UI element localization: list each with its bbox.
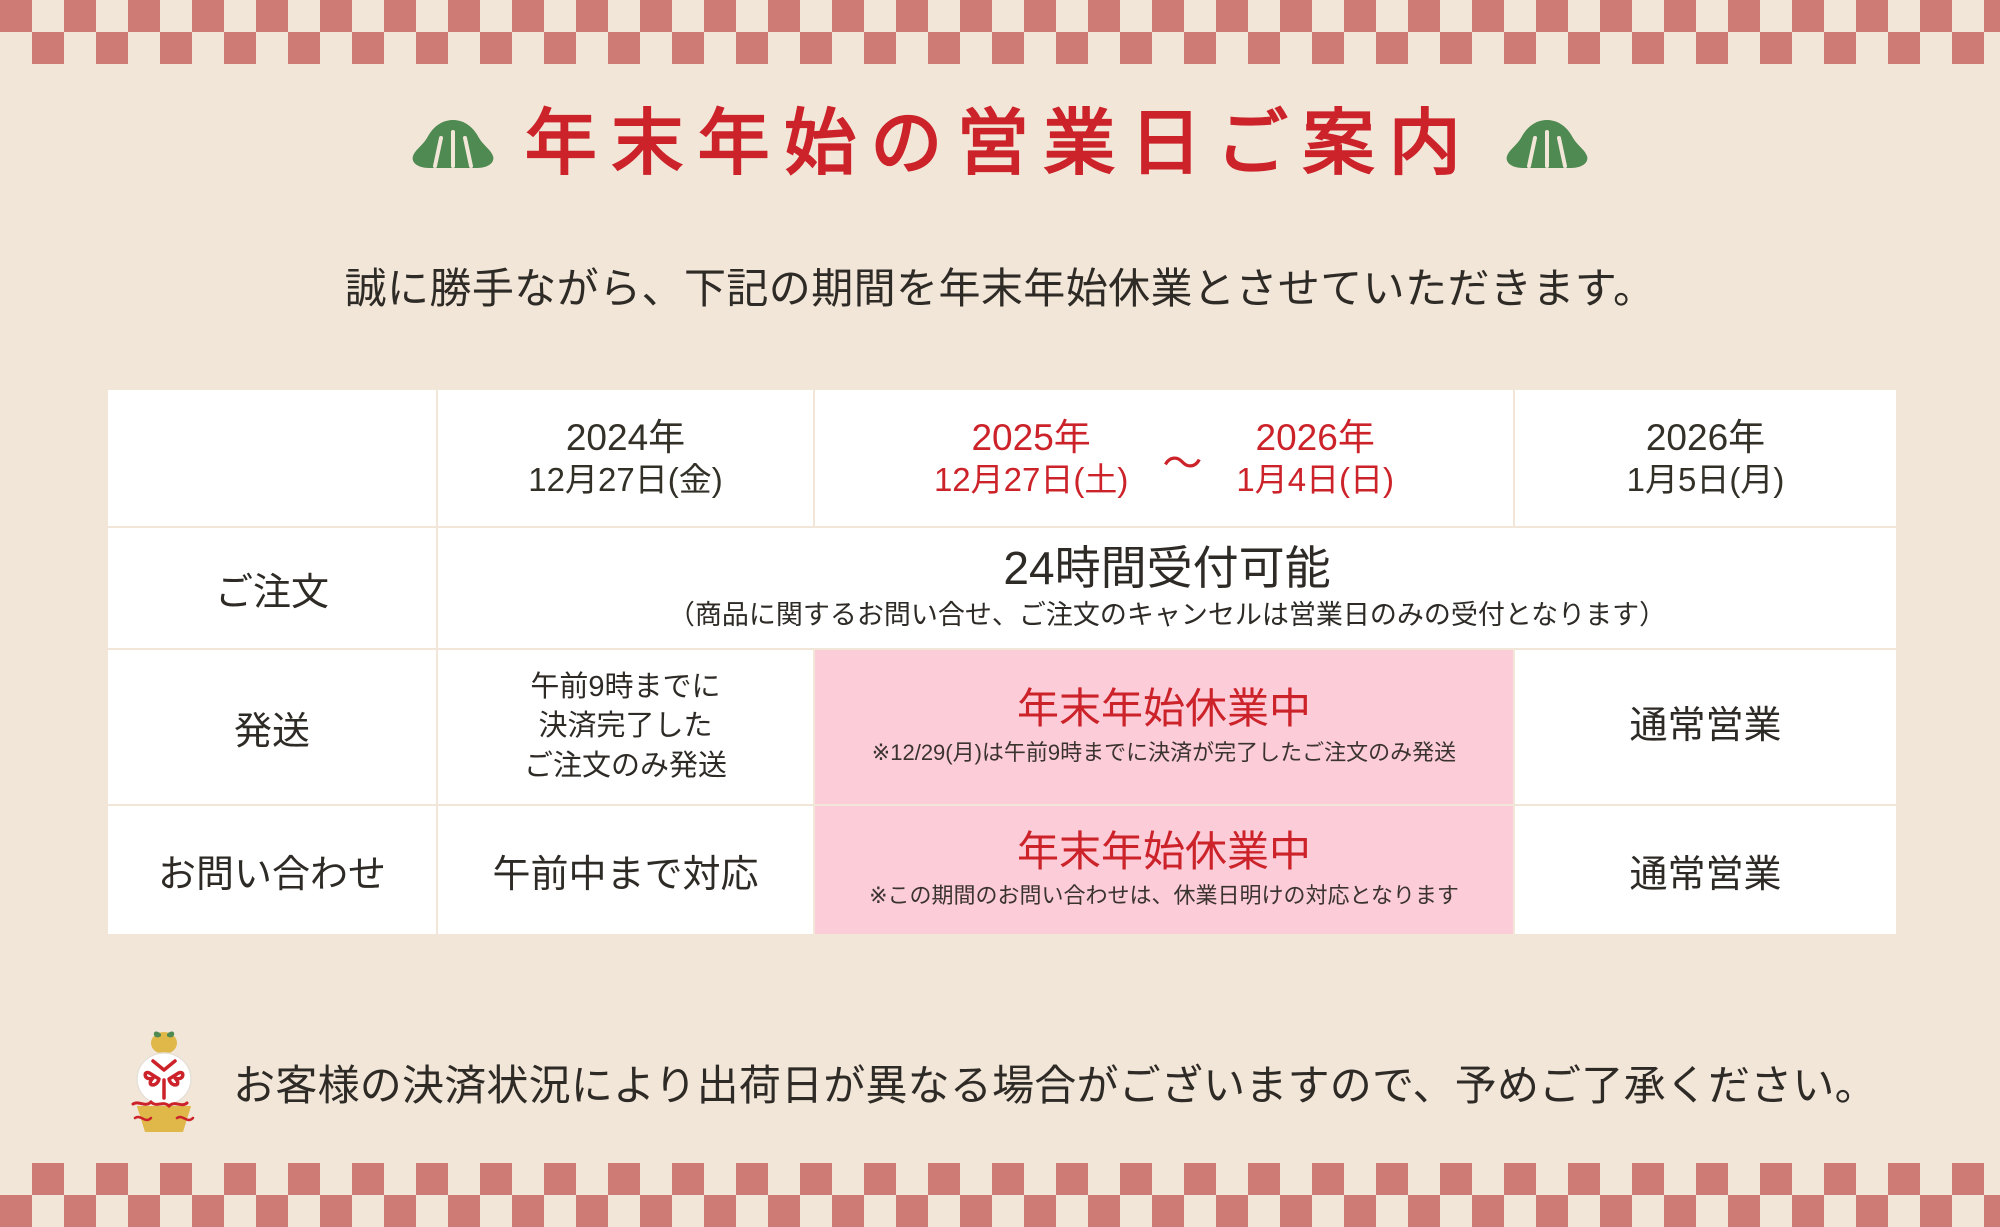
order-availability-cell: 24時間受付可能 （商品に関するお問い合せ、ご注文のキャンセルは営業日のみの受付… [437,527,1897,649]
row-label-order: ご注文 [107,527,437,649]
footer-note-row: お客様の決済状況により出荷日が異なる場合がございますので、予めご了承ください。 [0,1030,2000,1134]
table-row-shipping: 発送 午前9時までに 決済完了した ご注文のみ発送 年末年始休業中 ※12/29… [107,649,1897,805]
header-col-closed: 2025年 12月27日(土) 〜 2026年 1月4日(日) [814,389,1514,527]
order-main-text: 24時間受付可能 [438,543,1896,594]
shipping-after-cell: 通常営業 [1514,649,1897,805]
page-title: 年末年始の営業日ご案内 [525,108,1475,180]
inquiry-closed-main: 年末年始休業中 [815,829,1513,875]
header-col-after: 2026年 1月5日(月) [1514,389,1897,527]
kagami-mochi-icon [123,1030,205,1134]
inquiry-after-cell: 通常営業 [1514,805,1897,935]
shipping-closed-note: ※12/29(月)は午前9時までに決済が完了したご注文のみ発送 [815,738,1513,768]
header-closed-start: 2025年 12月27日(土) [934,415,1128,500]
range-tilde: 〜 [1162,440,1202,489]
row-label-shipping: 発送 [107,649,437,805]
header-closed-start-date: 12月27日(土) [934,460,1128,500]
schedule-table: 2024年 12月27日(金) 2025年 12月27日(土) 〜 2026年 … [106,388,1898,936]
shipping-before-line-3: ご注文のみ発送 [438,747,813,786]
header-blank-cell [107,389,437,527]
footer-note-text: お客様の決済状況により出荷日が異なる場合がございますので、予めご了承ください。 [233,1052,1877,1113]
inquiry-before-cell: 午前中まで対応 [437,805,814,935]
table-row-order: ご注文 24時間受付可能 （商品に関するお問い合せ、ご注文のキャンセルは営業日の… [107,527,1897,649]
header-before-date: 12月27日(金) [438,460,813,500]
header-col-before: 2024年 12月27日(金) [437,389,814,527]
table-header-row: 2024年 12月27日(金) 2025年 12月27日(土) 〜 2026年 … [107,389,1897,527]
inquiry-closed-cell: 年末年始休業中 ※この期間のお問い合わせは、休業日明けの対応となります [814,805,1514,935]
notice-page: 年末年始の営業日ご案内 誠に勝手ながら、下記の期間を年末年始休業とさせていただき… [0,0,2000,1227]
shipping-before-line-2: 決済完了した [438,707,813,746]
checker-border-bottom [0,1163,2000,1227]
inquiry-closed-note: ※この期間のお問い合わせは、休業日明けの対応となります [815,881,1513,911]
header-closed-end-date: 1月4日(日) [1236,460,1394,500]
shipping-before-line-1: 午前9時までに [438,668,813,707]
checker-border-top [0,0,2000,64]
shipping-closed-cell: 年末年始休業中 ※12/29(月)は午前9時までに決済が完了したご注文のみ発送 [814,649,1514,805]
page-subtitle: 誠に勝手ながら、下記の期間を年末年始休業とさせていただきます。 [0,255,2000,316]
header-closed-start-year: 2025年 [934,415,1128,460]
header-closed-end: 2026年 1月4日(日) [1236,415,1394,500]
shipping-closed-main: 年末年始休業中 [815,686,1513,732]
row-label-inquiry: お問い合わせ [107,805,437,935]
table-row-inquiry: お問い合わせ 午前中まで対応 年末年始休業中 ※この期間のお問い合わせは、休業日… [107,805,1897,935]
header-after-year: 2026年 [1515,415,1896,460]
title-row: 年末年始の営業日ご案内 [0,108,2000,180]
header-before-year: 2024年 [438,415,813,460]
header-after-date: 1月5日(月) [1515,460,1896,500]
pine-decoration-right-icon [1505,118,1589,170]
pine-decoration-left-icon [411,118,495,170]
shipping-before-cell: 午前9時までに 決済完了した ご注文のみ発送 [437,649,814,805]
header-closed-end-year: 2026年 [1236,415,1394,460]
order-sub-text: （商品に関するお問い合せ、ご注文のキャンセルは営業日のみの受付となります） [438,598,1896,633]
